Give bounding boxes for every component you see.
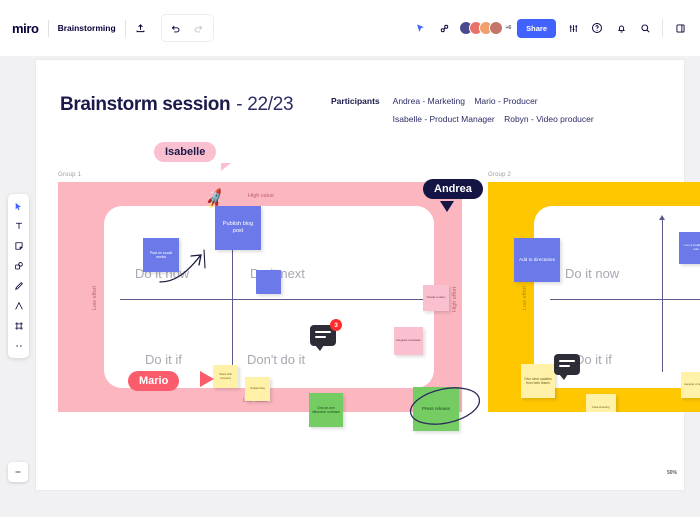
sticky-note[interactable]: Post on social media	[143, 238, 179, 272]
avatar[interactable]	[489, 21, 503, 35]
sticky-note[interactable]: Create a video	[423, 285, 449, 311]
sticky-note-text: Post on social media	[145, 251, 177, 260]
topbar-left-group: miro Brainstorming	[0, 14, 214, 42]
comment-count-badge: 3	[330, 319, 342, 331]
shapes-tool[interactable]	[11, 259, 26, 273]
matrix-vertical-axis	[662, 220, 663, 372]
undo-redo-group	[161, 14, 214, 42]
page-title: Brainstorm session - 22/23	[60, 94, 293, 116]
participant-entry: Robyn - Video producer	[504, 114, 594, 124]
comment-line	[559, 360, 575, 362]
comment-bubble[interactable]	[554, 354, 580, 375]
cursor-pointer-isabelle	[221, 163, 231, 171]
participant-entry: Mario - Producer	[474, 96, 537, 106]
sticky-note-text: Give clear updates from both teams	[523, 377, 553, 385]
select-tool[interactable]	[11, 199, 26, 213]
quadrant-label-do-it-if: Do it if	[575, 352, 612, 367]
text-tool[interactable]	[11, 219, 26, 233]
filter-icon[interactable]	[562, 17, 584, 39]
avatar-group[interactable]: +6	[459, 21, 511, 35]
sticky-note[interactable]: Update blog	[245, 377, 270, 401]
quadrant-label-do-it-if: Do it if	[145, 352, 182, 367]
comment-line	[315, 331, 331, 333]
axis-arrow-up-icon	[659, 215, 665, 220]
help-icon[interactable]	[586, 17, 608, 39]
cursor-name: Mario	[139, 375, 168, 387]
frame-tool[interactable]	[11, 319, 26, 333]
cursor-icon[interactable]	[409, 17, 431, 39]
cursor-name: Isabelle	[165, 146, 205, 158]
divider	[125, 20, 126, 37]
zoom-level-indicator[interactable]: 50%	[667, 470, 677, 476]
undo-icon[interactable]	[165, 17, 187, 39]
axis-label-low-effort: Low effort	[522, 286, 528, 310]
sticky-note[interactable]: One-on-one influencer outreach	[309, 393, 343, 427]
top-bar: miro Brainstorming	[0, 0, 700, 56]
upload-icon[interactable]	[130, 17, 152, 39]
sticky-note[interactable]: Add to directories	[514, 238, 560, 282]
sticky-note-tool[interactable]	[11, 239, 26, 253]
right-panel-icon[interactable]	[669, 17, 691, 39]
cursor-name: Andrea	[434, 183, 472, 195]
cursor-label-isabelle: Isabelle	[154, 142, 216, 162]
matrix-horizontal-axis	[550, 299, 700, 300]
axis-label-low-effort: Low effort	[92, 286, 98, 310]
avatar-overflow-count[interactable]: +6	[505, 25, 511, 31]
cursor-pointer-mario	[200, 371, 214, 387]
miro-logo[interactable]: miro	[10, 21, 48, 36]
more-tools[interactable]	[11, 339, 26, 353]
connector-line-icon[interactable]	[11, 299, 26, 313]
cursor-pointer-andrea	[440, 201, 454, 212]
sticky-note[interactable]: Publish blog post	[215, 206, 261, 250]
sticky-note-text: One-on-one influencer outreach	[311, 406, 341, 414]
search-icon[interactable]	[634, 17, 656, 39]
sticky-note-text: Publish blog post	[217, 221, 259, 235]
comment-bubble[interactable]: 3	[310, 325, 336, 346]
sticky-note-text: Create a video	[427, 296, 446, 300]
comment-line	[559, 365, 570, 367]
page-title-date: - 22/23	[236, 94, 293, 116]
group-2-panel[interactable]: Low effort Do it now Do it if Add to dir…	[488, 182, 700, 412]
sticky-note[interactable]: keeping of posts	[681, 372, 700, 398]
sticky-note-text: Integrate templates	[396, 339, 421, 343]
board-surface[interactable]: Brainstorm session - 22/23 Participants …	[36, 60, 684, 490]
group-1-label: Group 1	[58, 172, 81, 178]
quadrant-label-dont-do-it: Don't do it	[247, 352, 305, 367]
sticky-note-text: Update blog	[250, 387, 265, 390]
page-title-bold: Brainstorm session	[60, 94, 230, 116]
sticky-note[interactable]: Share with company	[213, 365, 238, 388]
participants-row: Isabelle - Product Manager Robyn - Video…	[393, 114, 601, 124]
participant-entry: Andrea - Marketing	[393, 96, 465, 106]
pen-tool[interactable]	[11, 279, 26, 293]
sticky-note-text: Add to directories	[519, 257, 555, 263]
sticky-note[interactable]: Data sheeting	[586, 394, 616, 412]
board-canvas[interactable]: Brainstorm session - 22/23 Participants …	[0, 56, 700, 517]
redo-icon[interactable]	[188, 17, 210, 39]
sticky-note-text: Data sheeting	[592, 406, 609, 409]
hand-drawn-ellipse	[406, 380, 484, 432]
cursor-label-mario: Mario	[128, 371, 179, 391]
participant-entry: Isabelle - Product Manager	[393, 114, 495, 124]
attention-link-icon[interactable]	[433, 17, 455, 39]
zoom-fit-button[interactable]	[8, 462, 28, 482]
bell-icon[interactable]	[610, 17, 632, 39]
axis-label-high-effort: High effort	[452, 287, 458, 312]
group-1-panel[interactable]: High value Low value Low effort High eff…	[58, 182, 462, 412]
sticky-note-text: I am a small sticke note	[681, 244, 700, 252]
topbar-right-group: +6 Share	[409, 17, 700, 39]
matrix-horizontal-axis	[120, 299, 432, 300]
comment-line	[315, 336, 326, 338]
sticky-note-text: keeping of posts	[684, 383, 700, 386]
sticky-note[interactable]	[256, 270, 281, 294]
sticky-note[interactable]: I am a small sticke note	[679, 232, 700, 264]
cursor-label-andrea: Andrea	[423, 179, 483, 199]
participants-list: Andrea - Marketing Mario - Producer Isab…	[393, 96, 601, 124]
board-name-label[interactable]: Brainstorming	[49, 23, 125, 33]
group-2-label: Group 2	[488, 172, 511, 178]
share-button[interactable]: Share	[517, 19, 556, 38]
divider	[662, 19, 663, 37]
tool-palette[interactable]	[8, 194, 29, 358]
sticky-note-text: Share with company	[215, 373, 236, 380]
sticky-note[interactable]: Integrate templates	[394, 327, 423, 355]
participants-block: Participants Andrea - Marketing Mario - …	[331, 96, 601, 124]
quadrant-label-do-it-now: Do it now	[565, 266, 619, 281]
axis-label-high-value: High value	[248, 193, 274, 199]
sticky-note[interactable]: Give clear updates from both teams	[521, 364, 555, 398]
participants-row: Andrea - Marketing Mario - Producer	[393, 96, 601, 106]
participants-label: Participants	[331, 96, 380, 124]
